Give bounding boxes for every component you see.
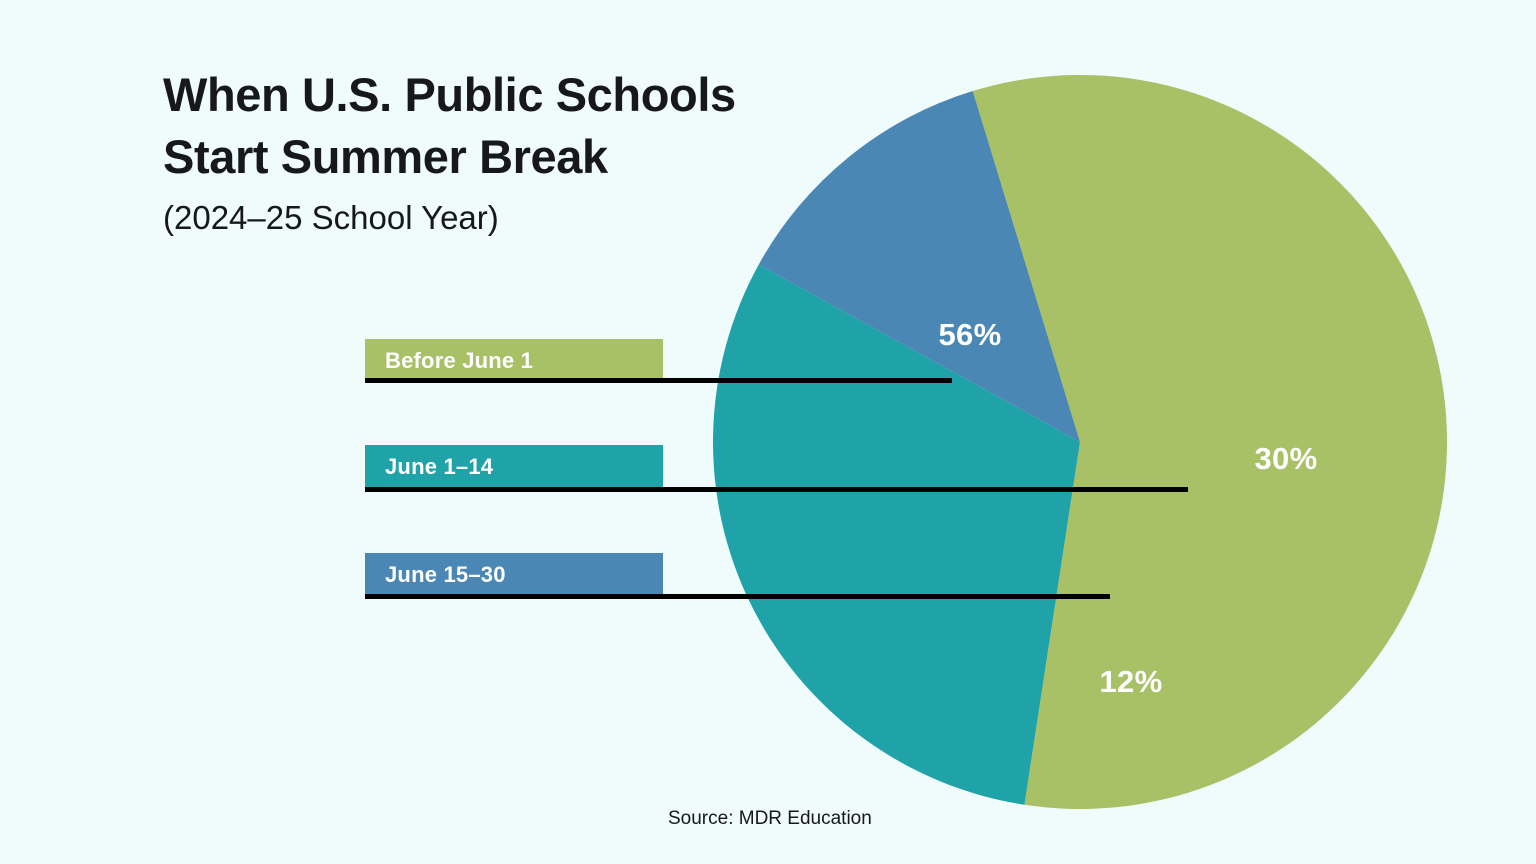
page-title: When U.S. Public Schools Start Summer Br… bbox=[163, 64, 863, 244]
infographic-canvas: 56% 30% 12% When U.S. Public Schools Sta… bbox=[0, 0, 1536, 864]
legend-label-june-1-14: June 1–14 bbox=[385, 454, 493, 480]
title-line-2: Start Summer Break bbox=[163, 126, 863, 188]
pie-label-june-15-30: 12% bbox=[1100, 664, 1163, 699]
legend-swatch-before-june-1[interactable]: Before June 1 bbox=[365, 339, 663, 383]
legend-swatch-june-15-30[interactable]: June 15–30 bbox=[365, 553, 663, 597]
pie-label-before-june-1: 56% bbox=[939, 317, 1002, 352]
pie-label-june-1-14: 30% bbox=[1255, 441, 1318, 476]
legend-label-june-15-30: June 15–30 bbox=[385, 562, 506, 588]
legend-leader-line-june-1-14 bbox=[365, 487, 1188, 492]
subtitle: (2024–25 School Year) bbox=[163, 192, 863, 244]
title-line-1: When U.S. Public Schools bbox=[163, 64, 863, 126]
source-caption: Source: MDR Education bbox=[668, 808, 872, 830]
legend-leader-line-june-15-30 bbox=[365, 594, 1110, 599]
legend-leader-line-before-june-1 bbox=[365, 378, 952, 383]
legend-swatch-june-1-14[interactable]: June 1–14 bbox=[365, 445, 663, 489]
legend-label-before-june-1: Before June 1 bbox=[385, 348, 533, 374]
